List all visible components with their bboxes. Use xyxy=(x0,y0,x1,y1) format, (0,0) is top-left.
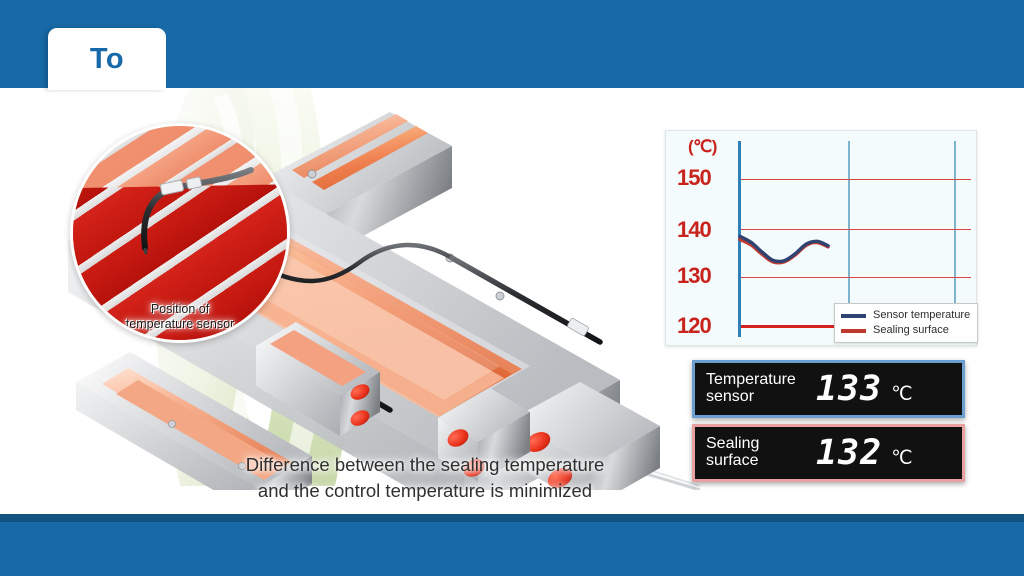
readout-label-temperature-sensor: Temperature sensor xyxy=(706,372,814,406)
page-title: To xyxy=(90,45,124,74)
y-tick-130: 130 xyxy=(677,265,711,287)
chart-unit-label: (℃) xyxy=(688,137,717,157)
magnifier-label-line2: temperature sensor xyxy=(126,317,234,331)
footer-accent-strip xyxy=(0,514,1024,522)
y-tick-120: 120 xyxy=(677,315,711,337)
title-tab: To xyxy=(48,28,166,90)
slide-caption: Difference between the sealing temperatu… xyxy=(175,452,675,503)
temperature-chart: (℃) 150 140 130 120 Sensor temperature S… xyxy=(665,130,977,346)
y-tick-150: 150 xyxy=(677,167,711,189)
slide-canvas: Position of temperature sensor To Differ… xyxy=(0,0,1024,576)
footer-band xyxy=(0,522,1024,576)
readout-sealing-surface: Sealing surface 132 ℃ xyxy=(692,424,965,482)
caption-line-1: Difference between the sealing temperatu… xyxy=(175,452,675,478)
caption-line-2: and the control temperature is minimized xyxy=(175,478,675,504)
legend-swatch-sensor xyxy=(841,314,866,318)
magnifier-callout: Position of temperature sensor xyxy=(70,123,290,343)
legend-item-sensor-temperature: Sensor temperature xyxy=(841,308,970,323)
magnifier-label: Position of temperature sensor xyxy=(103,302,257,333)
readout-label-line1-sealing: Sealing xyxy=(706,436,814,453)
readout-value-temperature-sensor: 133 xyxy=(816,369,882,409)
readout-label-line2-sensor: sensor xyxy=(706,389,814,406)
chart-legend: Sensor temperature Sealing surface xyxy=(834,303,978,343)
magnifier-label-line1: Position of xyxy=(151,302,209,316)
readout-label-line1-sensor: Temperature xyxy=(706,372,814,389)
legend-swatch-sealing xyxy=(841,329,866,333)
readout-label-sealing-surface: Sealing surface xyxy=(706,436,814,470)
readout-temperature-sensor: Temperature sensor 133 ℃ xyxy=(692,360,965,418)
readout-unit-temperature-sensor: ℃ xyxy=(891,383,912,405)
readout-unit-sealing-surface: ℃ xyxy=(891,447,912,469)
legend-label-sensor: Sensor temperature xyxy=(873,310,970,321)
sensor-probe-icon xyxy=(135,164,255,254)
y-tick-140: 140 xyxy=(677,219,711,241)
readout-value-sealing-surface: 132 xyxy=(816,433,882,473)
legend-item-sealing-surface: Sealing surface xyxy=(841,323,970,338)
legend-label-sealing: Sealing surface xyxy=(873,325,949,336)
readout-label-line2-sealing: surface xyxy=(706,453,814,470)
